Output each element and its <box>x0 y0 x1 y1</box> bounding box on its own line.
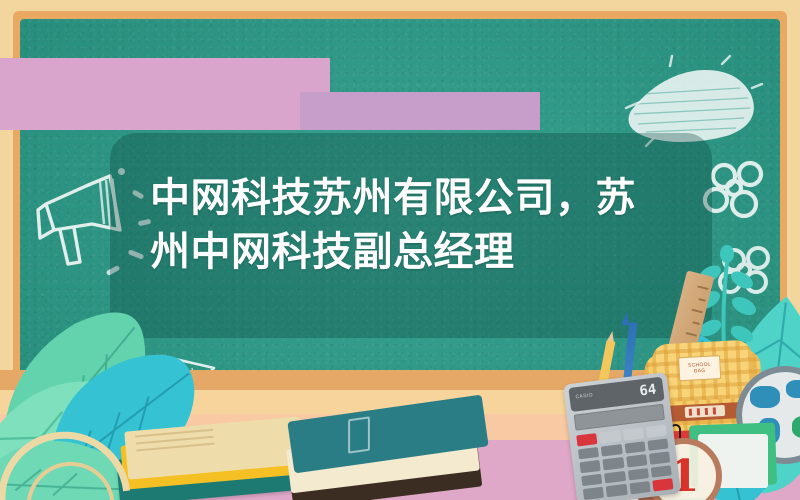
calculator-key <box>629 481 650 494</box>
calculator-key <box>627 468 648 481</box>
headline-line-2: 州中网科技副总经理 <box>150 230 515 274</box>
calculator-key <box>647 438 668 451</box>
desk-left-pink-area <box>0 58 330 130</box>
backpack-tag-line-2: BAG <box>694 368 706 375</box>
calculator-key <box>603 457 624 470</box>
calculator-key <box>624 441 645 454</box>
backpack-name-tag: SCHOOL BAG <box>678 355 721 381</box>
calculator-key <box>599 430 620 443</box>
calculator-key <box>650 465 671 478</box>
calculator-key <box>581 474 602 487</box>
calculator-key <box>645 425 666 438</box>
calculator-brand-label: CASIO <box>575 392 593 400</box>
calculator-key <box>626 454 647 467</box>
protractor-inner-arc <box>21 456 115 500</box>
calculator-key <box>583 487 604 500</box>
backpack-buckle <box>685 405 726 418</box>
book-cover-emblem <box>348 416 370 453</box>
calculator-key <box>606 484 627 497</box>
headline-line-1: 中网科技苏州有限公司，苏 <box>150 176 636 220</box>
calculator-key <box>652 479 673 492</box>
calculator-key <box>601 444 622 457</box>
cover-image: 中网科技苏州有限公司，苏州中网科技副总经理 <box>0 0 800 500</box>
calculator-key <box>604 471 625 484</box>
calculator-keypad <box>576 425 673 500</box>
desk-lavender-area <box>300 92 540 130</box>
calculator-key <box>622 427 643 440</box>
calculator-display-value: 64 <box>639 382 658 400</box>
page-title: 中网科技苏州有限公司，苏州中网科技副总经理 <box>150 172 670 279</box>
calculator-key <box>580 460 601 473</box>
calculator-key <box>576 433 597 446</box>
calculator-key <box>649 452 670 465</box>
calculator-key <box>578 447 599 460</box>
calculator-icon: CASIO 64 <box>563 372 681 500</box>
